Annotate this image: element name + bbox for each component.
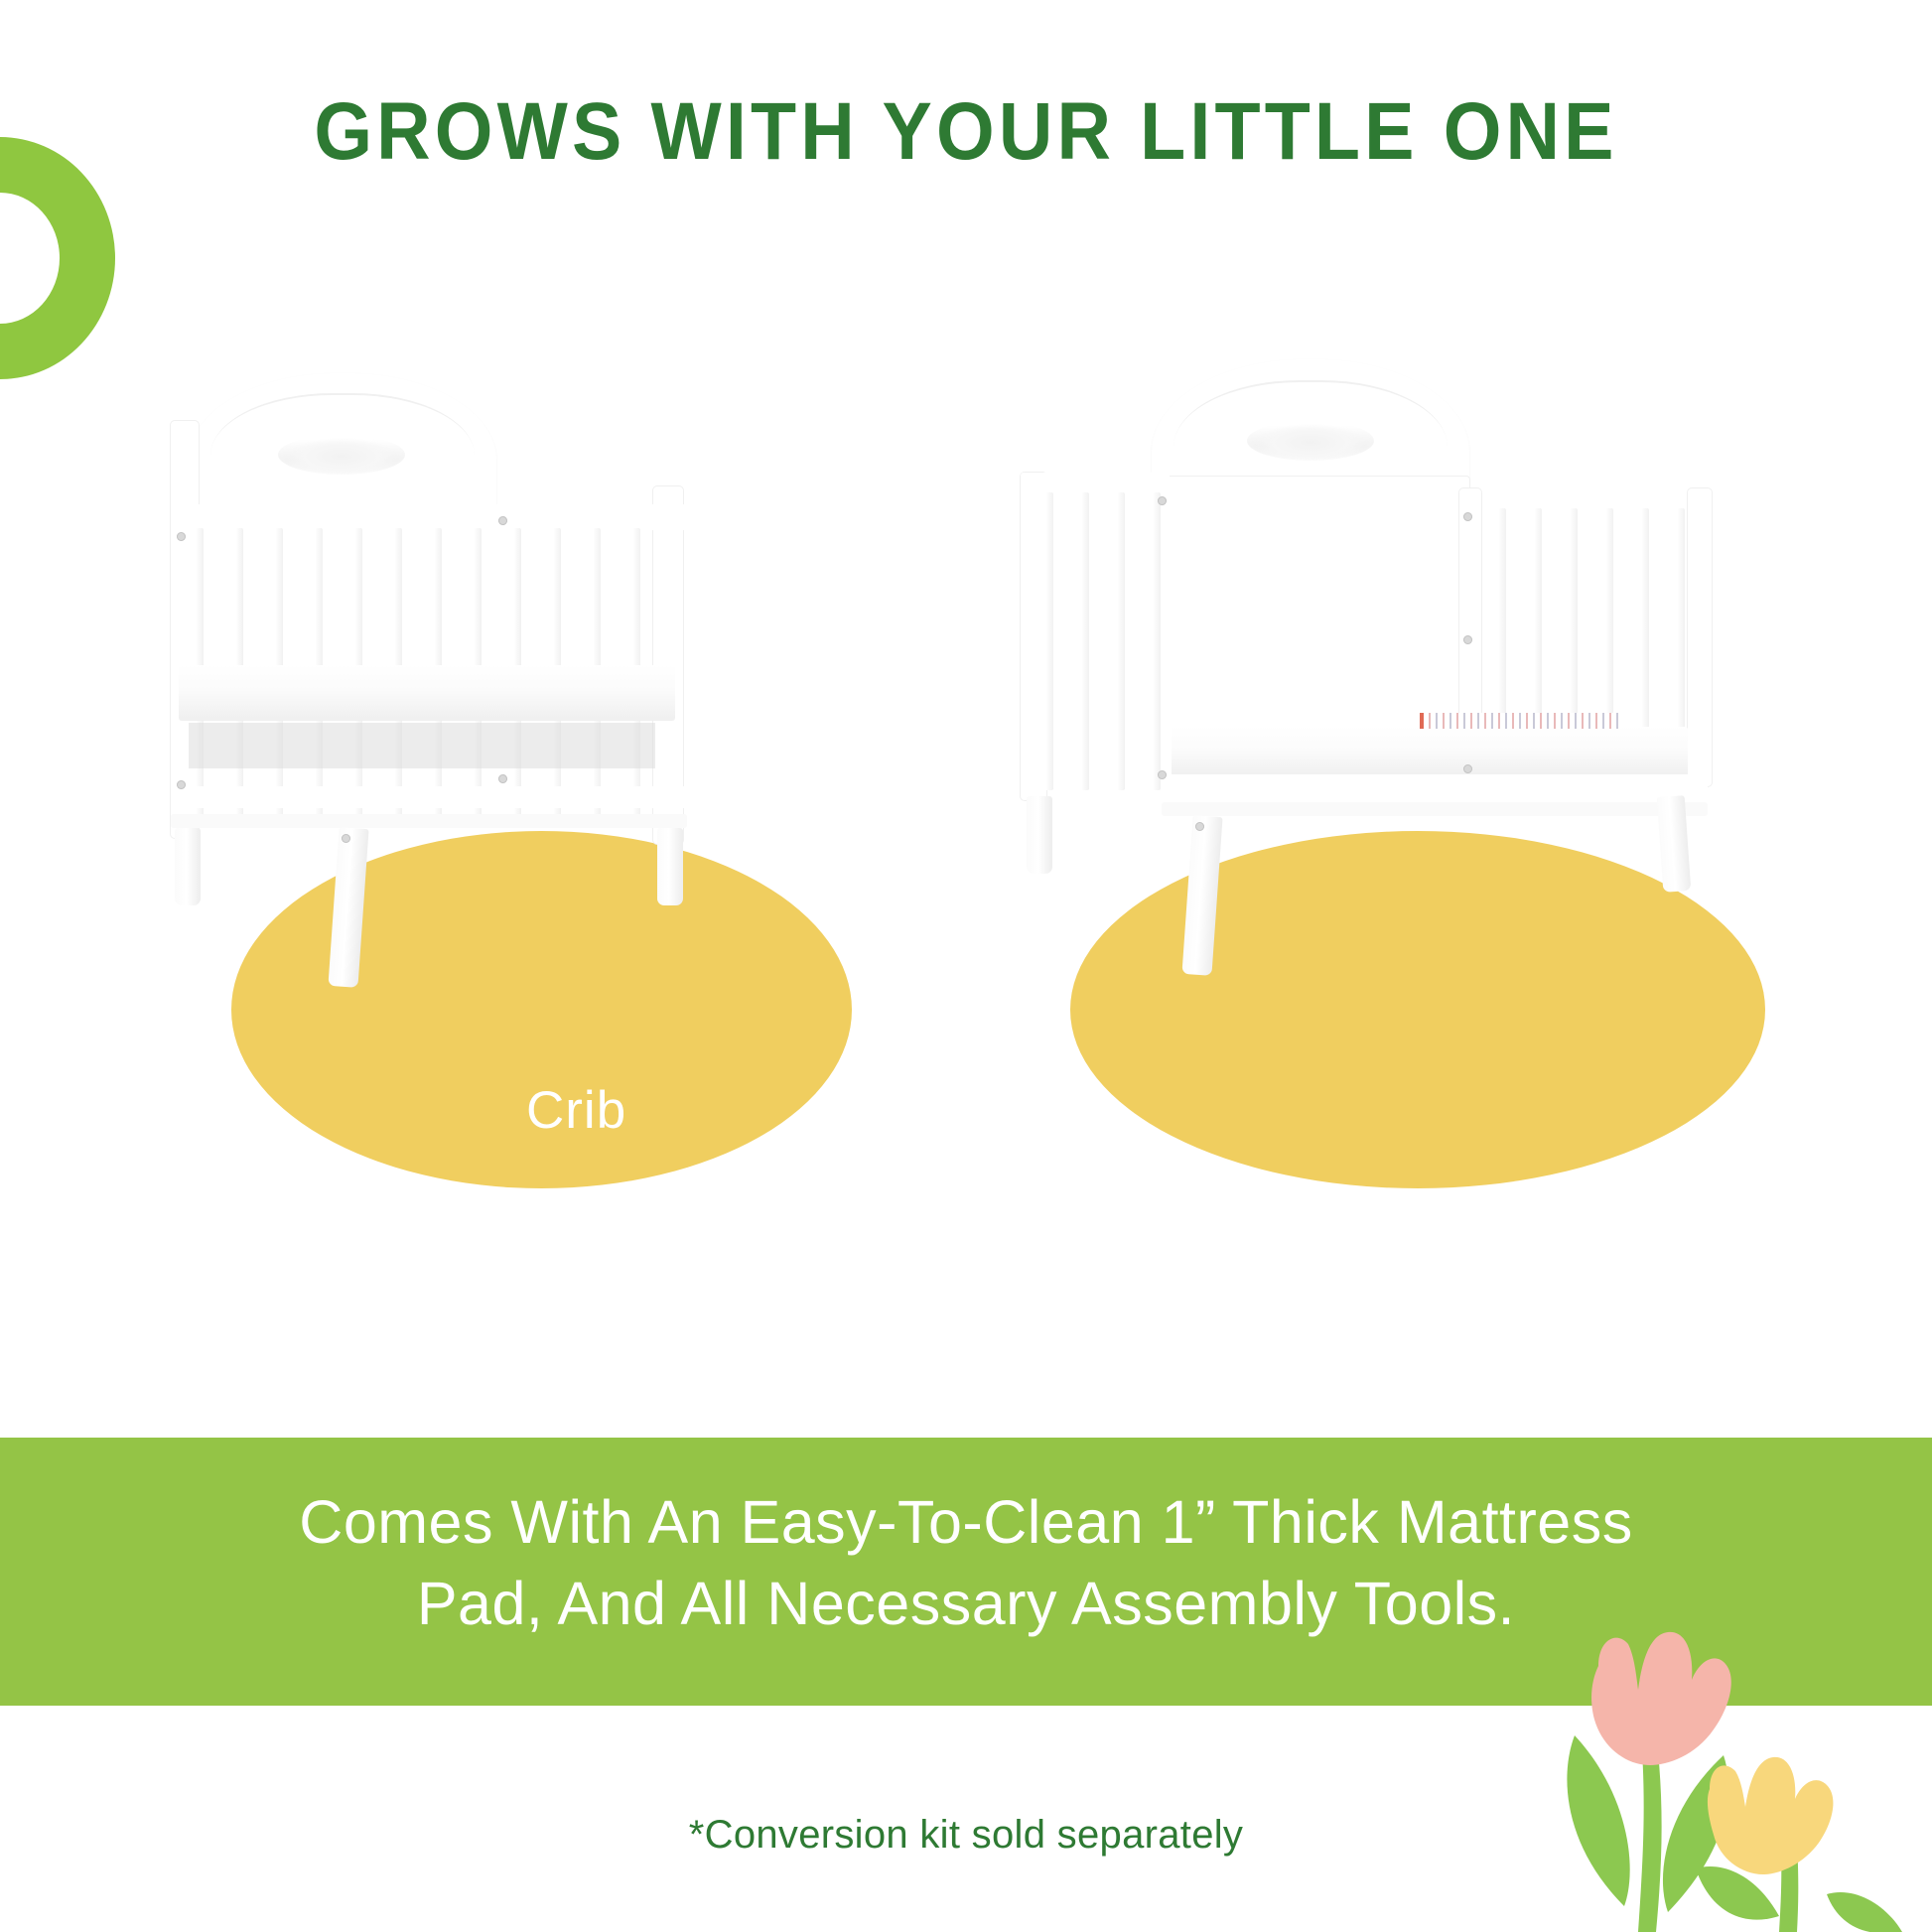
mattress-tag bbox=[1420, 713, 1622, 729]
banner-line-1: Comes With An Easy-To-Clean 1” Thick Mat… bbox=[299, 1488, 1632, 1556]
product-comparison-stage: Crib bbox=[0, 338, 1932, 1330]
day-bed-leg bbox=[1027, 796, 1052, 874]
rose-carving-icon bbox=[1247, 421, 1374, 461]
tulip-cluster-decoration bbox=[1529, 1608, 1932, 1932]
page-title: GROWS WITH YOUR LITTLE ONE bbox=[77, 91, 1855, 173]
yellow-tulip-icon bbox=[1708, 1757, 1834, 1874]
crib-leg bbox=[175, 828, 201, 905]
product-crib: Crib bbox=[129, 338, 923, 1330]
crib-leg bbox=[657, 828, 683, 905]
crib-mattress bbox=[179, 665, 675, 721]
product-day-bed-sofa: Day Bed/Sofa bbox=[993, 338, 1787, 1330]
day-bed-mattress bbox=[1172, 727, 1688, 778]
rose-carving-icon bbox=[278, 435, 405, 475]
day-bed-ground-ellipse bbox=[1070, 831, 1765, 1188]
crib-label: Crib bbox=[526, 1080, 626, 1141]
pink-tulip-icon bbox=[1591, 1632, 1731, 1765]
marketing-image-canvas: GROWS WITH YOUR LITTLE ONE bbox=[0, 0, 1932, 1932]
